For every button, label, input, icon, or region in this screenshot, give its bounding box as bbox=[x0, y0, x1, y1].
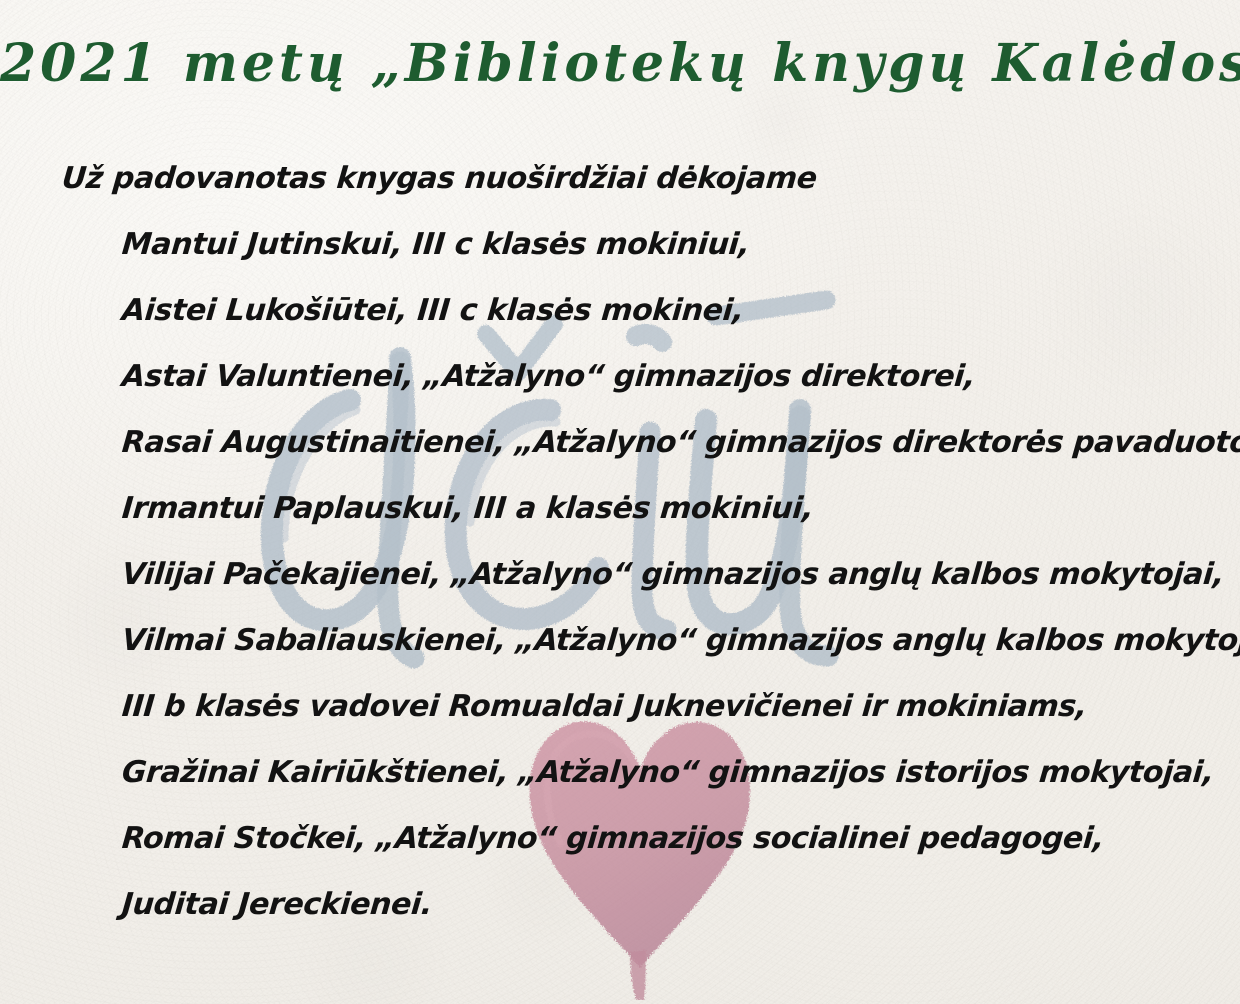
thanks-line: Gražinai Kairiūkštienei, „Atžalyno“ gimn… bbox=[0, 740, 1240, 806]
page-title: 2021 metų „Bibliotekų knygų Kalėdos“ bbox=[0, 33, 1240, 94]
thanks-line: Mantui Jutinskui, III c klasės mokiniui, bbox=[0, 212, 1240, 278]
poster-canvas: 2021 metų „Bibliotekų knygų Kalėdos“ Už … bbox=[0, 0, 1240, 1004]
thanks-text-block: Už padovanotas knygas nuoširdžiai dėkoja… bbox=[0, 146, 1240, 938]
thanks-line: Juditai Jereckienei. bbox=[0, 872, 1240, 938]
thanks-line: Vilmai Sabaliauskienei, „Atžalyno“ gimna… bbox=[0, 608, 1240, 674]
thanks-line: Aistei Lukošiūtei, III c klasės mokinei, bbox=[0, 278, 1240, 344]
intro-line: Už padovanotas knygas nuoširdžiai dėkoja… bbox=[0, 146, 1240, 212]
thanks-line: III b klasės vadovei Romualdai Jukneviči… bbox=[0, 674, 1240, 740]
thanks-line: Romai Stočkei, „Atžalyno“ gimnazijos soc… bbox=[0, 806, 1240, 872]
thanks-line: Astai Valuntienei, „Atžalyno“ gimnazijos… bbox=[0, 344, 1240, 410]
thanks-line: Irmantui Paplauskui, III a klasės mokini… bbox=[0, 476, 1240, 542]
thanks-line: Rasai Augustinaitienei, „Atžalyno“ gimna… bbox=[0, 410, 1240, 476]
thanks-line: Vilijai Pačekajienei, „Atžalyno“ gimnazi… bbox=[0, 542, 1240, 608]
